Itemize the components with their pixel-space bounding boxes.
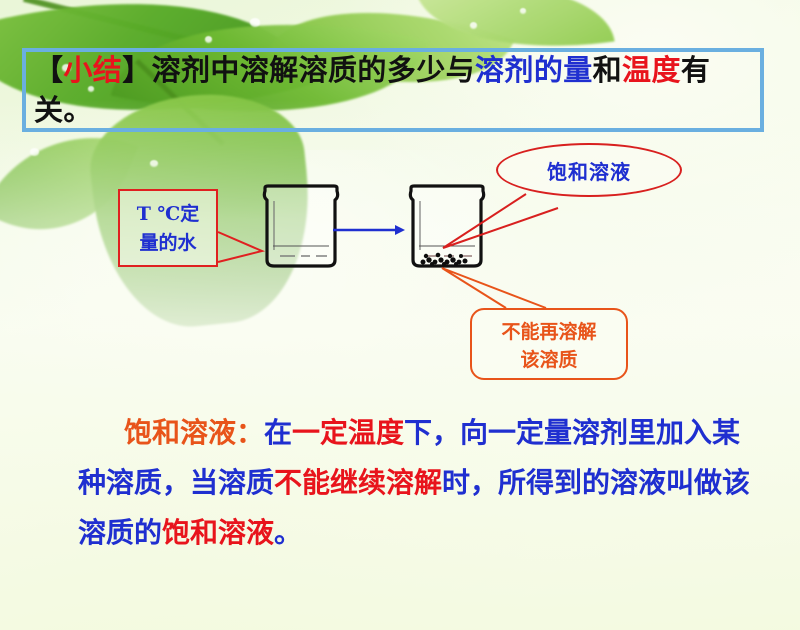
definition-segment-7: 饱和溶液 (162, 516, 274, 549)
callout-water-line1: T ℃定 (137, 203, 200, 225)
definition-segment-3: 一定温度 (292, 416, 404, 449)
callout-nomore-line1: 不能再溶解 (501, 321, 596, 343)
summary-segment-4: 温度 (622, 53, 681, 87)
definition-paragraph: 饱和溶液：在一定温度下，向一定量溶剂里加入某种溶质，当溶质不能继续溶解时，所得到… (78, 408, 758, 558)
transfer-arrow (333, 222, 405, 236)
callout-measured-water[interactable]: T ℃定 量的水 (118, 189, 218, 267)
definition-segment-2: 在 (264, 416, 292, 449)
summary-segment-1: 溶剂中溶解溶质的多少与 (152, 53, 475, 87)
beaker-with-undissolved-solute (404, 184, 490, 272)
callout-water-line2: 量的水 (139, 232, 196, 254)
summary-text: 【小结】溶剂中溶解溶质的多少与溶剂的量和温度有关。 (34, 50, 760, 130)
slide: 【小结】溶剂中溶解溶质的多少与溶剂的量和温度有关。 (0, 0, 800, 630)
summary-bracket-open: 【 (34, 53, 63, 87)
beaker-with-water (258, 184, 344, 272)
summary-label: 小结 (63, 53, 122, 87)
callout-saturated-solution[interactable]: 饱和溶液 (496, 143, 682, 197)
summary-bracket-close: 】 (122, 53, 151, 87)
summary-segment-2: 溶剂的量 (475, 53, 593, 87)
callout-measured-water-text: T ℃定 量的水 (120, 200, 216, 258)
summary-segment-3: 和 (593, 53, 622, 87)
callout-saturated-text: 饱和溶液 (496, 156, 682, 185)
definition-segment-5: 不能继续溶解 (274, 466, 442, 499)
definition-term: 饱和溶液： (124, 416, 264, 449)
definition-segment-8: 。 (274, 516, 302, 549)
callout-cannot-dissolve-more-text: 不能再溶解 该溶质 (472, 318, 626, 374)
callout-cannot-dissolve-more[interactable]: 不能再溶解 该溶质 (470, 308, 628, 380)
callout-nomore-line2: 该溶质 (520, 349, 577, 371)
